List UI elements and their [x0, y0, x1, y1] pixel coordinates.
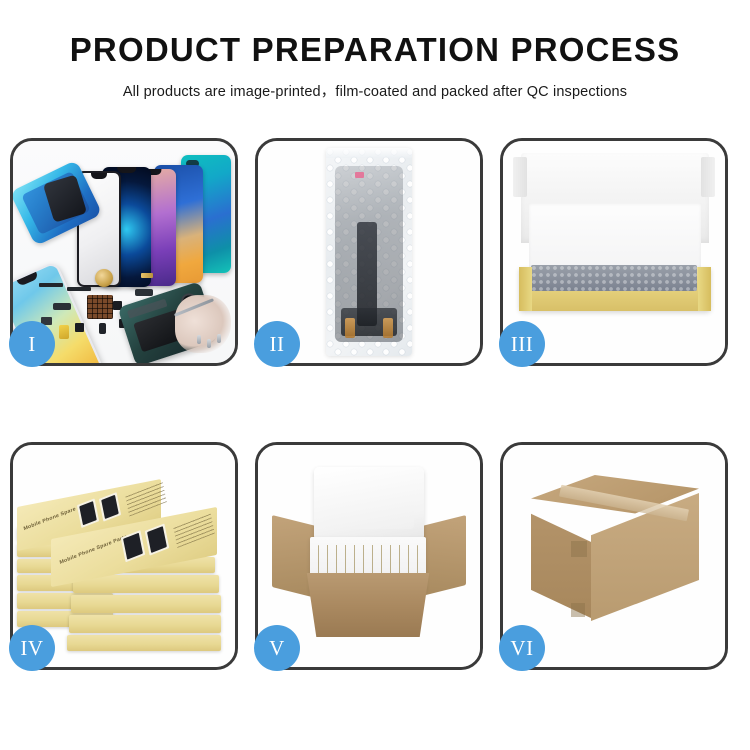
carton-body [300, 573, 436, 637]
kraft-box-label-front: Mobile Phone Spare Parts [59, 534, 128, 566]
step-badge-4: IV [9, 625, 55, 671]
bubble-wrap-bag [326, 148, 412, 356]
step-panel-2[interactable]: II [255, 138, 483, 366]
foam-box-lid [314, 467, 424, 541]
step-panel-5[interactable]: V [255, 442, 483, 670]
step-panel-3[interactable]: III [500, 138, 728, 366]
wrapped-screen [335, 166, 403, 342]
header: PRODUCT PREPARATION PROCESS All products… [0, 0, 750, 101]
product-preparation-infographic: PRODUCT PREPARATION PROCESS All products… [0, 0, 750, 750]
box-lid-flap-right [701, 157, 715, 197]
page-subtitle: All products are image-printed，film-coat… [0, 80, 750, 101]
bubble-wrapped-contents [531, 265, 697, 291]
box-lid-flap-left [513, 157, 527, 197]
step-panel-1[interactable]: 8:08 [10, 138, 238, 366]
step-badge-2: II [254, 321, 300, 367]
step-badge-5: V [254, 625, 300, 671]
phone-screens-group: 8:08 [71, 153, 235, 283]
step-badge-1: I [9, 321, 55, 367]
page-title: PRODUCT PREPARATION PROCESS [0, 32, 750, 68]
carton-tab-upper [571, 541, 587, 557]
carton-tab-lower [571, 603, 585, 617]
step-panel-4[interactable]: Mobile Phone Spare Parts Mobile Phone Sp… [10, 442, 238, 670]
tray-lip-right [698, 267, 711, 311]
bag-seal [326, 148, 412, 158]
foam-sheet [529, 203, 701, 271]
tray-lip-left [519, 267, 532, 311]
steps-grid: 8:08 [10, 138, 740, 686]
screws-group [195, 333, 225, 355]
step-panel-6[interactable]: VI [500, 442, 728, 670]
step-badge-3: III [499, 321, 545, 367]
box-stack: Mobile Phone Spare Parts Mobile Phone Sp… [15, 461, 235, 657]
step-badge-6: VI [499, 625, 545, 671]
